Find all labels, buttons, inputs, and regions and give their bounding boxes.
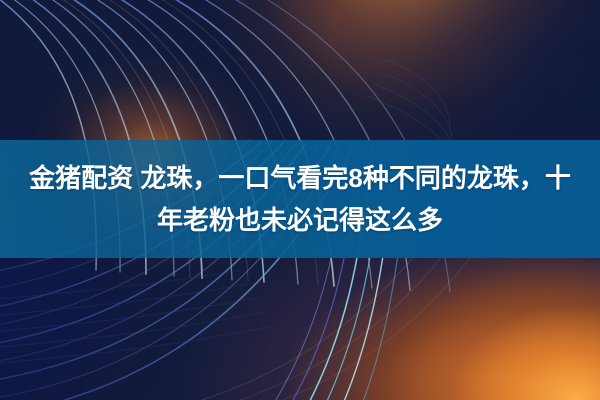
promo-banner: 金猪配资 龙珠，一口气看完8种不同的龙珠，十年老粉也未必记得这么多 [0, 0, 600, 400]
headline-band: 金猪配资 龙珠，一口气看完8种不同的龙珠，十年老粉也未必记得这么多 [0, 140, 600, 258]
headline-text: 金猪配资 龙珠，一口气看完8种不同的龙珠，十年老粉也未必记得这么多 [26, 157, 574, 241]
